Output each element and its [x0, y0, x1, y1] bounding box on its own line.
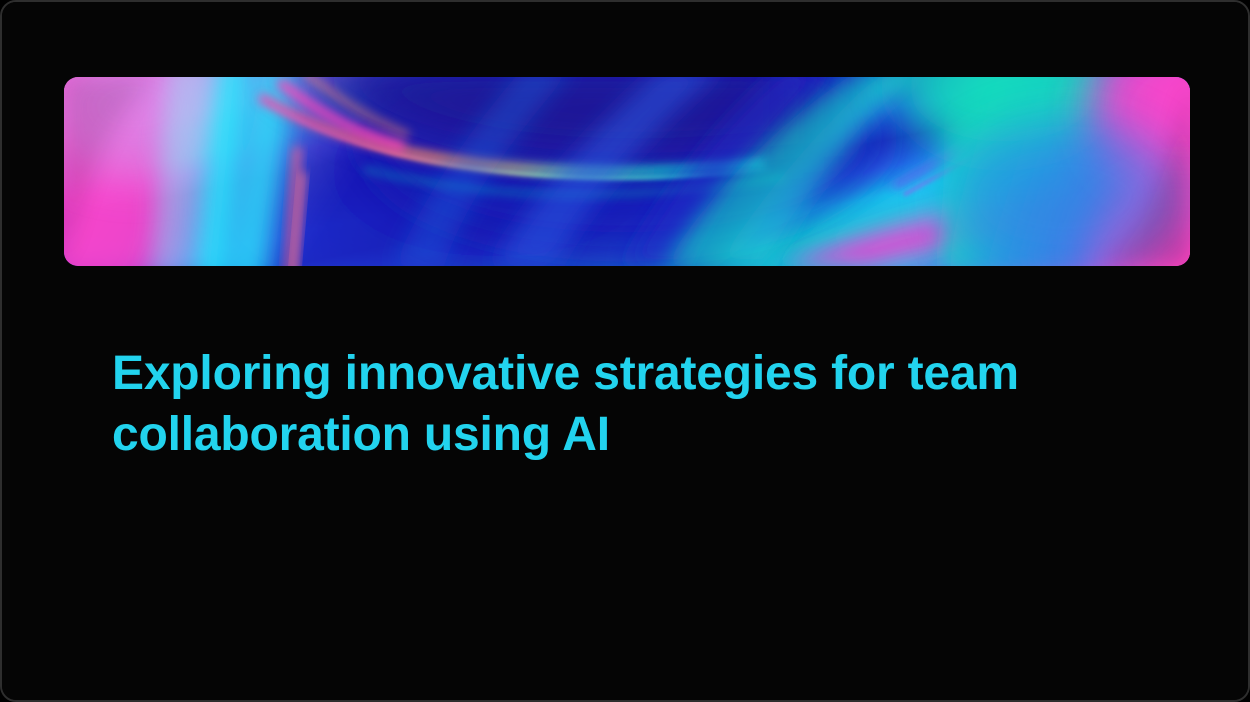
holographic-gradient-artwork [64, 77, 1190, 266]
slide-canvas: Exploring innovative strategies for team… [2, 2, 1248, 700]
slide-title: Exploring innovative strategies for team… [112, 343, 1092, 465]
slide-frame: Exploring innovative strategies for team… [0, 0, 1250, 702]
hero-banner-image [64, 77, 1190, 266]
